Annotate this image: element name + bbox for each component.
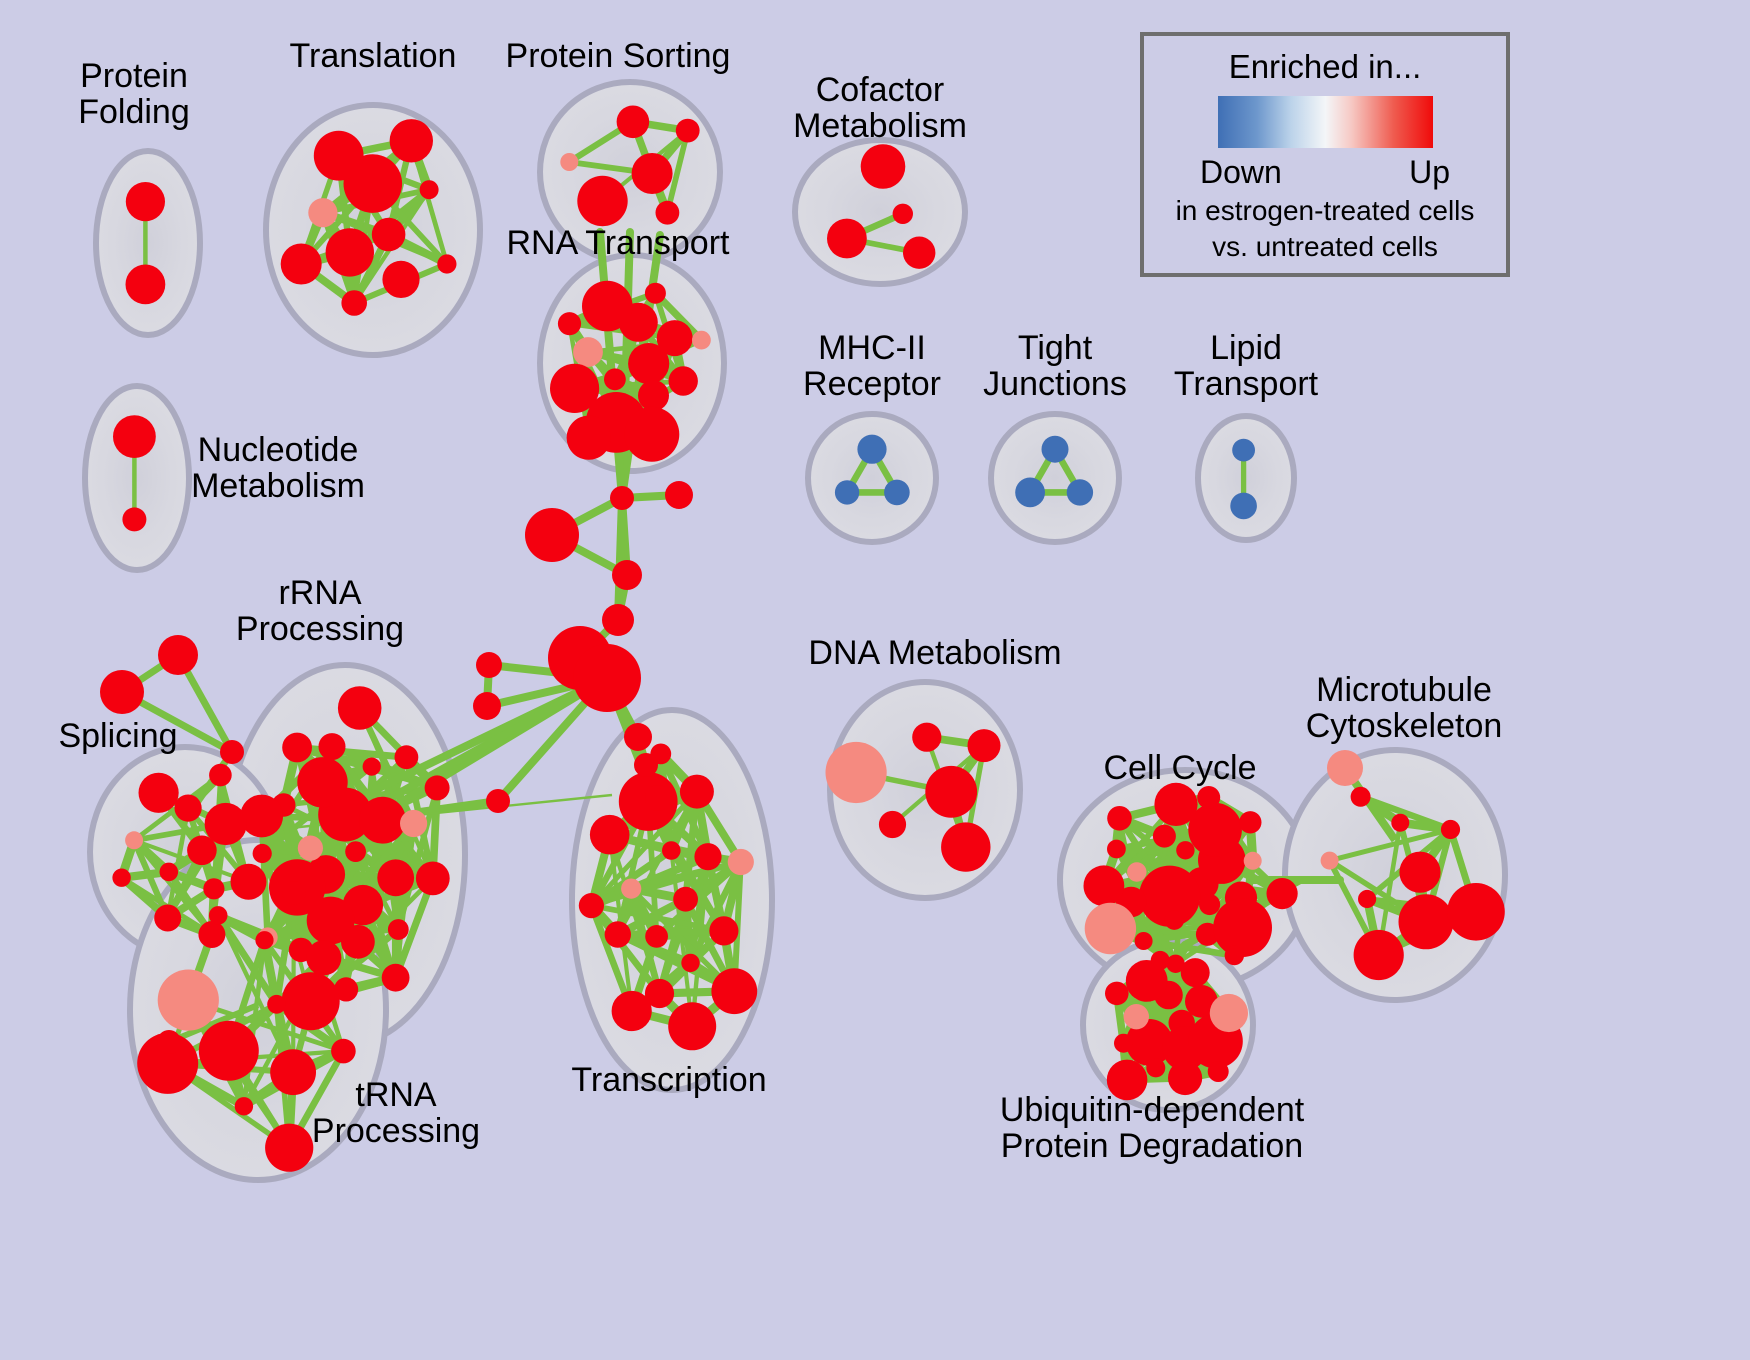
network-node bbox=[231, 864, 267, 900]
network-node bbox=[604, 368, 626, 390]
network-node bbox=[416, 862, 450, 896]
cluster-label-trna-processing: tRNA Processing bbox=[312, 1077, 480, 1149]
edge-bridge bbox=[618, 498, 622, 620]
network-node bbox=[1244, 852, 1262, 870]
edge bbox=[618, 931, 724, 935]
network-node bbox=[157, 1030, 181, 1054]
legend-low-label: Down bbox=[1200, 154, 1282, 191]
network-node bbox=[1321, 852, 1339, 870]
network-node bbox=[473, 692, 501, 720]
cluster-ellipse-tight-junctions bbox=[991, 414, 1119, 542]
network-node bbox=[879, 811, 906, 838]
cluster-label-protein-folding: Protein Folding bbox=[78, 58, 190, 130]
network-node bbox=[319, 733, 346, 760]
network-node bbox=[122, 507, 146, 531]
network-node bbox=[160, 863, 179, 882]
network-node bbox=[139, 773, 179, 813]
network-node bbox=[558, 312, 581, 335]
network-node bbox=[1230, 493, 1257, 520]
network-node bbox=[1197, 786, 1220, 809]
network-node bbox=[209, 906, 228, 925]
network-node bbox=[590, 815, 630, 855]
network-node bbox=[437, 254, 456, 273]
network-node bbox=[1447, 883, 1505, 941]
network-node bbox=[1181, 958, 1210, 987]
network-node bbox=[158, 970, 219, 1031]
network-node bbox=[1210, 994, 1248, 1032]
network-node bbox=[1327, 750, 1363, 786]
network-node bbox=[656, 201, 680, 225]
network-node bbox=[645, 283, 666, 304]
network-node bbox=[1213, 898, 1272, 957]
network-node bbox=[711, 968, 757, 1014]
cluster-label-nucleotide-metabolism: Nucleotide Metabolism bbox=[191, 432, 365, 504]
network-node bbox=[1267, 878, 1298, 909]
cluster-label-ubiquitin-protein-degradation: Ubiquitin-dependent Protein Degradation bbox=[1000, 1092, 1304, 1164]
network-node bbox=[363, 758, 381, 776]
network-node bbox=[1399, 852, 1440, 893]
network-node bbox=[331, 1039, 356, 1064]
network-node bbox=[662, 841, 681, 860]
network-node bbox=[390, 119, 433, 162]
network-node bbox=[645, 785, 671, 811]
network-node bbox=[1176, 841, 1194, 859]
network-node bbox=[1067, 479, 1093, 505]
network-node bbox=[884, 480, 910, 506]
network-node bbox=[125, 831, 143, 849]
network-node bbox=[1153, 825, 1176, 848]
network-node bbox=[634, 753, 658, 777]
network-node bbox=[1391, 814, 1409, 832]
cluster-label-translation: Translation bbox=[290, 38, 457, 74]
network-node bbox=[625, 407, 680, 462]
cluster-ellipse-protein-folding bbox=[96, 151, 200, 335]
network-node bbox=[709, 916, 738, 945]
network-node bbox=[125, 265, 165, 305]
network-node bbox=[359, 797, 406, 844]
cluster-ellipse-nucleotide-metabolism bbox=[85, 386, 189, 570]
network-node bbox=[382, 261, 419, 298]
cluster-label-rna-transport: RNA Transport bbox=[507, 225, 730, 261]
network-node bbox=[657, 320, 693, 356]
network-node bbox=[298, 836, 323, 861]
network-node bbox=[341, 290, 367, 316]
network-node bbox=[113, 415, 156, 458]
network-node bbox=[1107, 840, 1126, 859]
network-node bbox=[567, 416, 611, 460]
network-node bbox=[645, 925, 668, 948]
network-node bbox=[861, 144, 906, 189]
network-node bbox=[198, 921, 225, 948]
network-node bbox=[345, 841, 366, 862]
network-node bbox=[486, 789, 510, 813]
network-node bbox=[903, 237, 935, 269]
network-node bbox=[308, 198, 337, 227]
network-node bbox=[209, 764, 232, 787]
cluster-label-mhc-ii-receptor: MHC-II Receptor bbox=[803, 330, 941, 402]
network-node bbox=[382, 964, 410, 992]
network-node bbox=[1441, 820, 1460, 839]
network-node bbox=[253, 844, 272, 863]
network-node bbox=[624, 723, 652, 751]
cluster-label-transcription: Transcription bbox=[571, 1062, 766, 1098]
network-node bbox=[638, 380, 669, 411]
network-node bbox=[676, 119, 700, 143]
network-node bbox=[835, 480, 859, 504]
network-node bbox=[621, 879, 641, 899]
network-node bbox=[1358, 890, 1376, 908]
network-node bbox=[1154, 783, 1197, 826]
network-node bbox=[1354, 930, 1404, 980]
network-node bbox=[1208, 1061, 1229, 1082]
network-node bbox=[573, 337, 603, 367]
network-node bbox=[1042, 436, 1069, 463]
cluster-label-splicing: Splicing bbox=[58, 718, 177, 754]
network-node bbox=[605, 921, 631, 947]
network-node bbox=[694, 843, 721, 870]
network-node bbox=[282, 972, 340, 1030]
network-node bbox=[665, 481, 693, 509]
cluster-label-protein-sorting: Protein Sorting bbox=[506, 38, 731, 74]
network-node bbox=[617, 106, 650, 139]
network-node bbox=[1107, 806, 1132, 831]
legend-title: Enriched in... bbox=[1229, 48, 1422, 86]
network-node bbox=[968, 729, 1001, 762]
network-node bbox=[925, 766, 977, 818]
cluster-label-tight-junctions: Tight Junctions bbox=[983, 330, 1127, 402]
network-node bbox=[577, 176, 627, 226]
network-node bbox=[680, 775, 714, 809]
network-node bbox=[282, 881, 306, 905]
network-node bbox=[1105, 982, 1129, 1006]
network-node bbox=[668, 1002, 716, 1050]
network-node bbox=[205, 803, 247, 845]
cluster-label-cofactor-metabolism: Cofactor Metabolism bbox=[793, 72, 967, 144]
network-node bbox=[372, 218, 406, 252]
enrichment-map-figure: Protein Folding Translation Protein Sort… bbox=[0, 0, 1750, 1360]
network-node bbox=[582, 281, 633, 332]
network-node bbox=[632, 153, 673, 194]
network-node bbox=[610, 486, 634, 510]
network-node bbox=[265, 1124, 313, 1172]
network-node bbox=[579, 893, 604, 918]
network-node bbox=[827, 219, 867, 259]
network-node bbox=[1085, 903, 1136, 954]
network-node bbox=[1124, 1004, 1149, 1029]
network-node bbox=[1015, 478, 1045, 508]
network-node bbox=[281, 244, 322, 285]
network-node bbox=[1165, 910, 1185, 930]
network-node bbox=[326, 228, 374, 276]
network-node bbox=[220, 740, 244, 764]
network-node bbox=[673, 887, 698, 912]
network-node bbox=[602, 604, 634, 636]
network-node bbox=[692, 331, 711, 350]
network-node bbox=[941, 822, 990, 871]
network-node bbox=[612, 560, 642, 590]
network-node bbox=[1127, 862, 1146, 881]
network-node bbox=[1084, 865, 1125, 906]
network-node bbox=[255, 931, 273, 949]
network-node bbox=[1225, 946, 1244, 965]
legend-caption-line2: vs. untreated cells bbox=[1212, 231, 1438, 263]
network-node bbox=[377, 859, 414, 896]
network-node bbox=[341, 925, 375, 959]
network-node bbox=[420, 180, 439, 199]
network-node bbox=[112, 869, 130, 887]
network-node bbox=[240, 795, 283, 838]
network-node bbox=[175, 795, 202, 822]
cluster-label-cell-cycle: Cell Cycle bbox=[1103, 750, 1256, 786]
network-node bbox=[395, 745, 419, 769]
network-node bbox=[400, 810, 427, 837]
network-node bbox=[826, 742, 887, 803]
network-node bbox=[893, 204, 913, 224]
network-node bbox=[267, 995, 286, 1014]
network-node bbox=[525, 508, 579, 562]
network-node bbox=[297, 757, 347, 807]
network-node bbox=[1199, 894, 1220, 915]
network-node bbox=[560, 153, 578, 171]
network-node bbox=[1351, 787, 1371, 807]
network-node bbox=[728, 849, 754, 875]
network-node bbox=[476, 652, 502, 678]
cluster-label-lipid-transport: Lipid Transport bbox=[1174, 330, 1318, 402]
network-node bbox=[306, 940, 341, 975]
network-node bbox=[912, 723, 941, 752]
network-node bbox=[158, 635, 198, 675]
network-node bbox=[1114, 1034, 1133, 1053]
network-node bbox=[1135, 932, 1153, 950]
network-node bbox=[388, 919, 409, 940]
legend-high-label: Up bbox=[1409, 154, 1450, 191]
network-node bbox=[126, 182, 165, 221]
network-node bbox=[314, 131, 364, 181]
legend-caption-line1: in estrogen-treated cells bbox=[1176, 195, 1475, 227]
network-node bbox=[573, 644, 641, 712]
legend-color-ramp bbox=[1218, 96, 1433, 148]
network-node bbox=[1239, 811, 1261, 833]
network-node bbox=[681, 954, 699, 972]
network-node bbox=[612, 991, 652, 1031]
network-node bbox=[338, 686, 382, 730]
cluster-label-dna-metabolism: DNA Metabolism bbox=[808, 635, 1061, 671]
legend-box: Enriched in... Down Up in estrogen-treat… bbox=[1140, 32, 1510, 277]
network-node bbox=[669, 366, 698, 395]
cluster-label-rrna-processing: rRNA Processing bbox=[236, 575, 404, 647]
network-node bbox=[1232, 439, 1255, 462]
cluster-label-microtubule-cytoskeleton: Microtubule Cytoskeleton bbox=[1306, 672, 1503, 744]
network-node bbox=[235, 1097, 253, 1115]
network-node bbox=[154, 905, 181, 932]
network-node bbox=[1399, 894, 1454, 949]
network-node bbox=[550, 364, 599, 413]
network-node bbox=[203, 878, 224, 899]
network-node bbox=[425, 775, 450, 800]
network-node bbox=[1146, 1058, 1165, 1077]
network-node bbox=[1151, 951, 1170, 970]
network-node bbox=[100, 670, 144, 714]
network-node bbox=[857, 435, 886, 464]
network-node bbox=[270, 1049, 316, 1095]
network-node bbox=[1168, 1061, 1202, 1095]
cluster-ellipse-mhc-ii-receptor bbox=[808, 414, 936, 542]
network-node bbox=[282, 733, 312, 763]
network-node bbox=[199, 1021, 259, 1081]
